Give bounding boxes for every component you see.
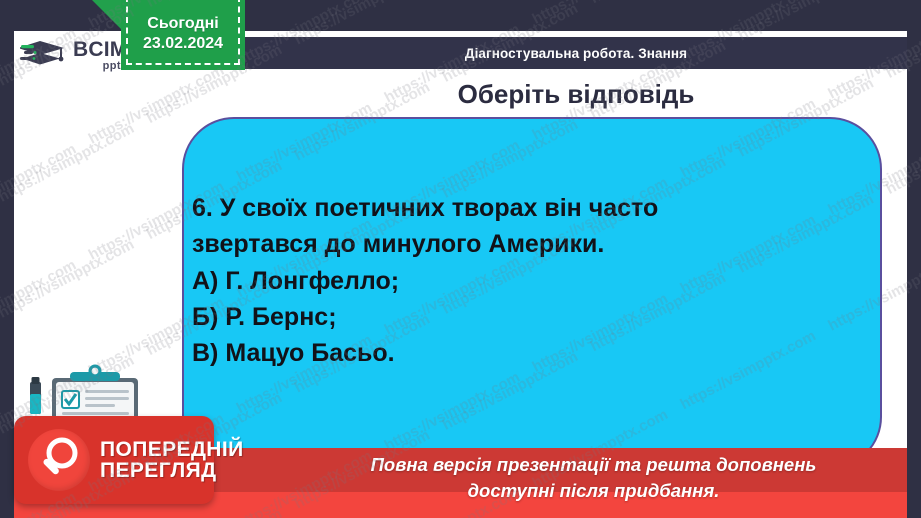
today-date-badge: Сьогодні 23.02.2024 <box>121 0 245 70</box>
lesson-header-bar: Діагностувальна робота. Знання <box>245 37 907 69</box>
slide-title: Оберіть відповідь <box>245 79 907 110</box>
today-date: 23.02.2024 <box>143 35 223 53</box>
purchase-banner-line-2: доступні після придбання. <box>280 478 907 504</box>
lesson-header-title: Діагностувальна робота. Знання <box>465 46 687 61</box>
purchase-banner-line-1: Повна версія презентації та решта доповн… <box>280 452 907 478</box>
presentation-slide: BCIM pptx Сьогодні 23.02.2024 Діагностув… <box>0 0 921 518</box>
answer-option-c[interactable]: В) Мацуо Басьо. <box>192 335 852 371</box>
answer-option-a[interactable]: А) Г. Лонгфелло; <box>192 263 852 299</box>
question-line-1: 6. У своїх поетичних творах він часто <box>192 190 852 226</box>
preview-badge-line-2: ПЕРЕГЛЯД <box>100 460 244 481</box>
brand-logo: BCIM pptx <box>20 33 132 77</box>
question-block: 6. У своїх поетичних творах він часто зв… <box>192 190 852 371</box>
preview-badge[interactable]: ПОПЕРЕДНІЙ ПЕРЕГЛЯД <box>14 416 214 504</box>
question-line-2: звертався до минулого Америки. <box>192 226 852 262</box>
magnifier-icon <box>28 429 90 491</box>
logo-name: BCIM <box>73 39 127 60</box>
graduation-cap-icon <box>20 38 68 72</box>
today-label: Сьогодні <box>147 15 218 33</box>
preview-badge-line-1: ПОПЕРЕДНІЙ <box>100 439 244 460</box>
purchase-banner-text: Повна версія презентації та решта доповн… <box>280 452 907 503</box>
answer-option-b[interactable]: Б) Р. Бернс; <box>192 299 852 335</box>
